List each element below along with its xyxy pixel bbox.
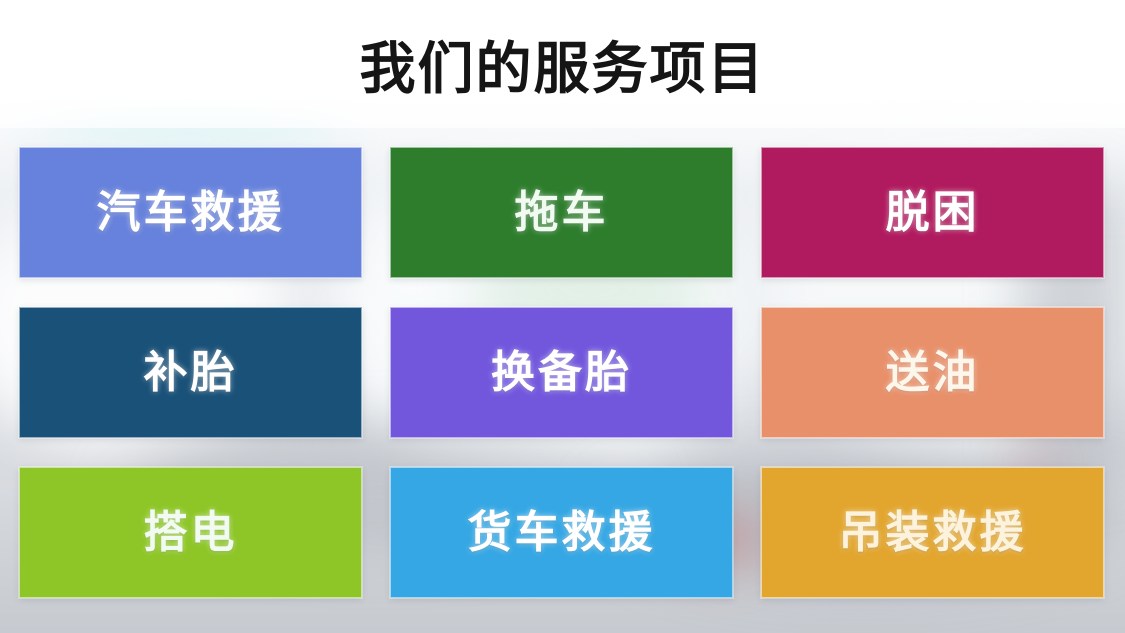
service-tile-truck-rescue[interactable]: 货车救援 — [390, 467, 733, 598]
service-tile-label: 补胎 — [144, 351, 238, 395]
service-tile-spare-tire[interactable]: 换备胎 — [390, 307, 733, 438]
title-band: 我们的服务项目 — [0, 0, 1125, 128]
service-tile-label: 汽车救援 — [97, 191, 285, 235]
service-tile-fuel-delivery[interactable]: 送油 — [761, 307, 1104, 438]
service-tile-tire-repair[interactable]: 补胎 — [19, 307, 362, 438]
service-tile-car-rescue[interactable]: 汽车救援 — [19, 147, 362, 278]
service-tile-label: 吊装救援 — [839, 511, 1027, 555]
service-tile-label: 搭电 — [144, 511, 238, 555]
service-tile-label: 脱困 — [886, 191, 980, 235]
service-poster: 我们的服务项目 汽车救援拖车脱困补胎换备胎送油搭电货车救援吊装救援 — [0, 0, 1125, 633]
service-tile-tow-truck[interactable]: 拖车 — [390, 147, 733, 278]
service-tile-label: 换备胎 — [491, 351, 632, 395]
service-tile-extrication[interactable]: 脱困 — [761, 147, 1104, 278]
service-tile-label: 货车救援 — [468, 511, 656, 555]
service-tile-jump-start[interactable]: 搭电 — [19, 467, 362, 598]
service-tile-label: 送油 — [886, 351, 980, 395]
service-tile-label: 拖车 — [515, 191, 609, 235]
service-tile-grid: 汽车救援拖车脱困补胎换备胎送油搭电货车救援吊装救援 — [19, 147, 1104, 599]
page-title: 我们的服务项目 — [360, 31, 766, 97]
service-tile-crane-rescue[interactable]: 吊装救援 — [761, 467, 1104, 598]
